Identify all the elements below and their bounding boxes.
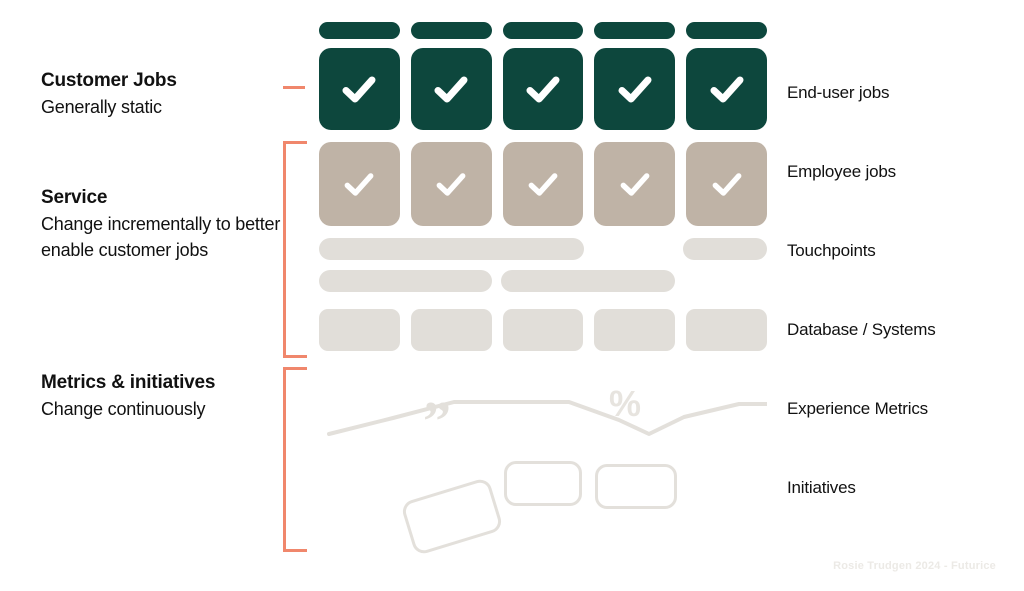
employee-jobs-row [319, 142, 767, 226]
row-label-touchpoints: Touchpoints [787, 240, 876, 262]
bracket-metrics-initiatives [283, 367, 307, 552]
end-user-jobs-row [319, 48, 767, 130]
section-subtitle: Change continuously [41, 396, 281, 422]
check-icon [341, 166, 377, 202]
top-pill [411, 22, 492, 39]
row-label-end-user-jobs: End-user jobs [787, 82, 889, 104]
diagram-canvas: Customer Jobs Generally static Service C… [0, 0, 1024, 591]
end-user-job-card [411, 48, 492, 130]
experience-metrics-graphic: ” % [319, 372, 767, 452]
credit-text: Rosie Trudgen 2024 - Futurice [833, 560, 996, 572]
check-icon [615, 69, 655, 109]
database-system-box [686, 309, 767, 351]
section-service: Service Change incrementally to better e… [41, 185, 281, 263]
quote-icon: ” [423, 391, 451, 452]
database-system-box [319, 309, 400, 351]
employee-job-card [411, 142, 492, 226]
section-title: Metrics & initiatives [41, 370, 281, 396]
database-systems-row [319, 309, 767, 351]
employee-job-card [319, 142, 400, 226]
row-label-employee-jobs: Employee jobs [787, 161, 896, 183]
initiative-box [400, 477, 504, 556]
database-system-box [503, 309, 584, 351]
initiative-box [595, 464, 677, 509]
section-subtitle: Change incrementally to better enable cu… [41, 211, 281, 263]
bracket-service [283, 141, 307, 358]
employee-job-card [503, 142, 584, 226]
end-user-job-card [319, 48, 400, 130]
employee-job-card [686, 142, 767, 226]
database-system-box [594, 309, 675, 351]
section-title: Customer Jobs [41, 68, 281, 94]
check-icon [525, 166, 561, 202]
touchpoint-bar [501, 270, 675, 292]
row-label-initiatives: Initiatives [787, 477, 856, 499]
end-user-job-card [686, 48, 767, 130]
top-pill [319, 22, 400, 39]
section-title: Service [41, 185, 281, 211]
section-subtitle: Generally static [41, 94, 281, 120]
touchpoint-bar [319, 270, 492, 292]
database-system-box [411, 309, 492, 351]
bracket-customer-jobs [283, 86, 305, 89]
check-icon [339, 69, 379, 109]
percent-icon: % [609, 383, 641, 424]
check-icon [433, 166, 469, 202]
end-user-job-card [594, 48, 675, 130]
section-metrics-initiatives: Metrics & initiatives Change continuousl… [41, 370, 281, 422]
check-icon [709, 166, 745, 202]
check-icon [431, 69, 471, 109]
touchpoint-bar [319, 238, 584, 260]
check-icon [617, 166, 653, 202]
employee-job-card [594, 142, 675, 226]
section-customer-jobs: Customer Jobs Generally static [41, 68, 281, 120]
top-pill [686, 22, 767, 39]
top-pill [503, 22, 584, 39]
touchpoint-bar [683, 238, 767, 260]
check-icon [707, 69, 747, 109]
row-label-experience-metrics: Experience Metrics [787, 398, 928, 420]
initiative-box [504, 461, 582, 506]
metrics-trend-line [329, 402, 767, 434]
row-label-database-systems: Database / Systems [787, 319, 936, 341]
top-pill [594, 22, 675, 39]
check-icon [523, 69, 563, 109]
end-user-job-card [503, 48, 584, 130]
top-pill-row [319, 22, 767, 39]
